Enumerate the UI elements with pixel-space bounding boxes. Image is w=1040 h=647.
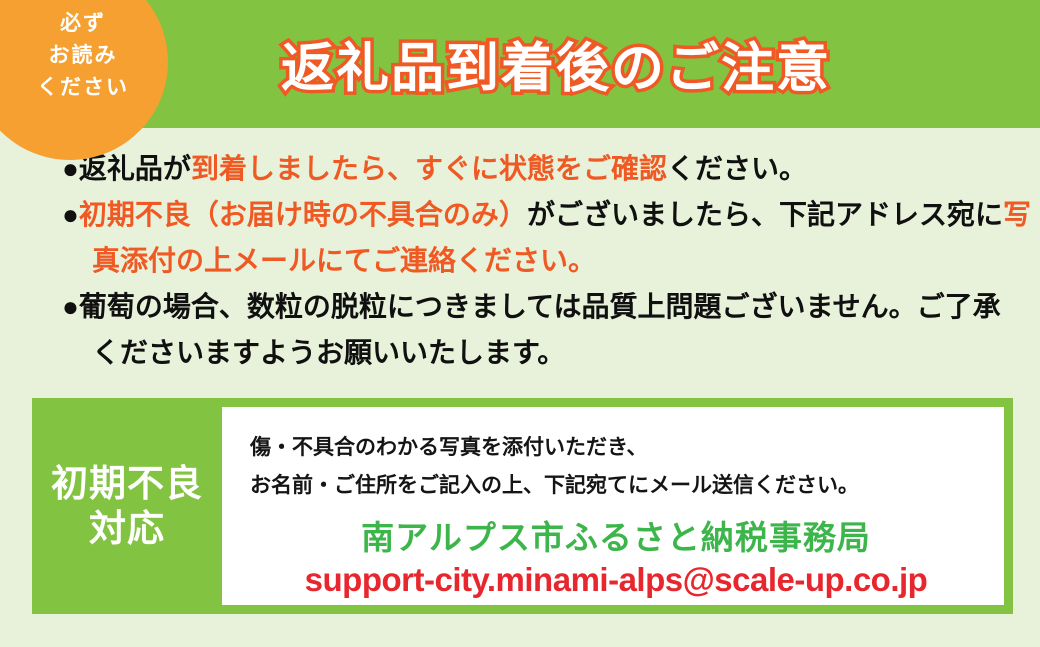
bullet-dot-icon: ● (62, 199, 79, 230)
defect-response-label: 初期不良対応 (32, 398, 222, 614)
notice-text-segment-1-0: 初期不良（お届け時の不具合のみ） (79, 199, 527, 230)
contact-email[interactable]: support-city.minami-alps@scale-up.co.jp (250, 559, 1004, 601)
notice-bullet-line-3: ●葡萄の場合、数粒の脱粒につきましては品質上問題ございません。ご了承 (62, 284, 992, 330)
contact-instructions: 傷・不具合のわかる写真を添付いただき、お名前・ご住所をご記入の上、下記宛てにメー… (250, 429, 1004, 505)
notice-text-segment-4-0: くださいますようお願いいたします。 (92, 337, 565, 368)
notice-bullet-line-2: 真添付の上メールにてご連絡ください。 (62, 238, 992, 284)
defect-response-panel: 初期不良対応 傷・不具合のわかる写真を添付いただき、お名前・ご住所をご記入の上、… (32, 398, 1013, 614)
defect-response-label-line-1: 対応 (89, 506, 165, 551)
notice-bullet-line-4: くださいますようお願いいたします。 (62, 330, 992, 376)
notice-text-segment-0-2: ください。 (667, 153, 807, 184)
defect-response-label-line-0: 初期不良 (51, 461, 203, 506)
must-read-badge-line-0: 必ず (8, 8, 158, 40)
organization-name: 南アルプス市ふるさと納税事務局 (250, 517, 1004, 559)
notice-text-segment-0-1: 到着しましたら、すぐに状態をご確認 (191, 153, 667, 184)
contact-card: 傷・不具合のわかる写真を添付いただき、お名前・ご住所をご記入の上、下記宛てにメー… (222, 407, 1004, 605)
notice-text-segment-3-0: 葡萄の場合、数粒の脱粒につきましては品質上問題ございません。ご了承 (79, 291, 1001, 322)
notice-text-segment-2-0: 真添付の上メールにてご連絡ください。 (92, 245, 596, 276)
contact-instruction-line-0: 傷・不具合のわかる写真を添付いただき、 (250, 429, 1004, 467)
bullet-dot-icon: ● (62, 291, 79, 322)
notice-bullet-line-1: ●初期不良（お届け時の不具合のみ）がございましたら、下記アドレス宛に写 (62, 192, 992, 238)
must-read-badge-text: 必ずお読みください (8, 8, 158, 104)
contact-instruction-line-1: お名前・ご住所をご記入の上、下記宛てにメール送信ください。 (250, 467, 1004, 505)
must-read-badge-line-2: ください (8, 72, 158, 104)
notice-text-segment-1-2: 写 (1003, 199, 1031, 230)
notice-body: ●返礼品が到着しましたら、すぐに状態をご確認ください。●初期不良（お届け時の不具… (62, 146, 992, 376)
return-gift-notice-graphic: 返礼品到着後のご注意 必ずお読みください ●返礼品が到着しましたら、すぐに状態を… (0, 0, 1040, 647)
notice-text-segment-1-1: がございましたら、下記アドレス宛に (527, 199, 1003, 230)
notice-bullet-line-0: ●返礼品が到着しましたら、すぐに状態をご確認ください。 (62, 146, 992, 192)
must-read-badge-line-1: お読み (8, 40, 158, 72)
notice-text-segment-0-0: 返礼品が (79, 153, 191, 184)
